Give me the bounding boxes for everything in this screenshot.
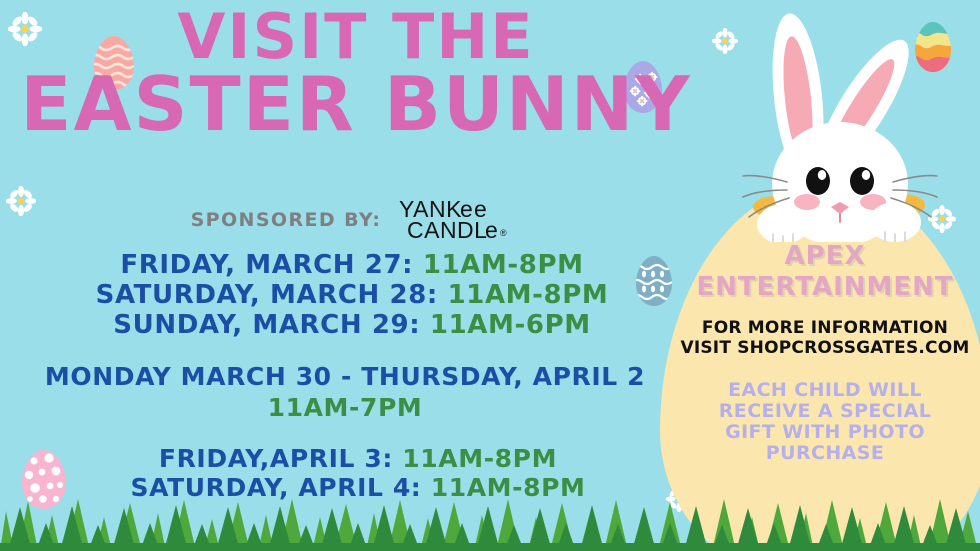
svg-text:e: e xyxy=(485,217,498,243)
schedule-date: FRIDAY, MARCH 27: xyxy=(120,250,413,280)
schedule-date: SATURDAY, MARCH 28: xyxy=(96,280,438,310)
yankee-candle-logo: YANK e e CANDL e ® xyxy=(397,196,521,244)
location-line-3: ENTERTAINMENT xyxy=(670,273,980,301)
schedule-row: MONDAY MARCH 30 - THURSDAY, APRIL 2 xyxy=(0,362,690,391)
easter-bunny-poster: VISIT THE EASTER BUNNY SPONSORED BY: YAN… xyxy=(0,0,980,551)
info-line-1: FOR MORE INFORMATION xyxy=(670,318,980,338)
schedule-date: SATURDAY, APRIL 4: xyxy=(130,473,421,502)
schedule-hours: 11AM-6PM xyxy=(430,310,591,340)
schedule-hours: 11AM-8PM xyxy=(423,250,584,280)
schedule-date: MONDAY MARCH 30 - THURSDAY, APRIL 2 xyxy=(45,362,645,391)
schedule-row: SUNDAY, MARCH 29: 11AM-6PM xyxy=(14,310,690,340)
svg-text:CANDL: CANDL xyxy=(407,217,487,243)
poster-headline: VISIT THE EASTER BUNNY xyxy=(0,8,712,139)
schedule-group-first-weekend: FRIDAY, MARCH 27: 11AM-8PM SATURDAY, MAR… xyxy=(14,250,690,340)
gift-line-1: EACH CHILD WILL xyxy=(670,380,980,401)
website-line[interactable]: VISIT SHOPCROSSGATES.COM xyxy=(670,338,980,358)
schedule-date: FRIDAY,APRIL 3: xyxy=(159,444,393,473)
title-line-1: VISIT THE xyxy=(0,8,712,66)
gift-line-2: RECEIVE A SPECIAL xyxy=(670,401,980,422)
schedule-row: SATURDAY, MARCH 28: 11AM-8PM xyxy=(14,280,690,310)
svg-text:®: ® xyxy=(500,228,507,238)
gift-line-4: PURCHASE xyxy=(670,443,980,464)
schedule-hours: 11AM-8PM xyxy=(402,444,557,473)
schedule-row: FRIDAY,APRIL 3: 11AM-8PM xyxy=(26,444,690,473)
gift-offer-block: EACH CHILD WILL RECEIVE A SPECIAL GIFT W… xyxy=(670,380,980,464)
gift-line-3: GIFT WITH PHOTO xyxy=(670,422,980,443)
schedule-row: SATURDAY, APRIL 4: 11AM-8PM xyxy=(26,473,690,502)
schedule-row-hours: 11AM-7PM xyxy=(0,393,690,422)
easter-bunny-icon xyxy=(735,2,945,242)
schedule-group-weekdays: MONDAY MARCH 30 - THURSDAY, APRIL 2 11AM… xyxy=(0,362,690,422)
schedule-row: FRIDAY, MARCH 27: 11AM-8PM xyxy=(14,250,690,280)
more-information-block: FOR MORE INFORMATION VISIT SHOPCROSSGATE… xyxy=(670,318,980,358)
schedule-date: SUNDAY, MARCH 29: xyxy=(113,310,420,340)
sponsor-row: SPONSORED BY: YANK e e CANDL e ® xyxy=(0,196,712,244)
schedule-hours: 11AM-7PM xyxy=(268,393,423,422)
location-line-2: APEX xyxy=(670,242,980,270)
schedule-hours: 11AM-8PM xyxy=(448,280,609,310)
title-line-2: EASTER BUNNY xyxy=(0,70,712,140)
schedule-hours: 11AM-8PM xyxy=(431,473,586,502)
schedule-group-second-weekend: FRIDAY,APRIL 3: 11AM-8PM SATURDAY, APRIL… xyxy=(26,444,690,502)
sponsored-by-label: SPONSORED BY: xyxy=(191,209,382,231)
schedule-block: FRIDAY, MARCH 27: 11AM-8PM SATURDAY, MAR… xyxy=(0,250,690,502)
